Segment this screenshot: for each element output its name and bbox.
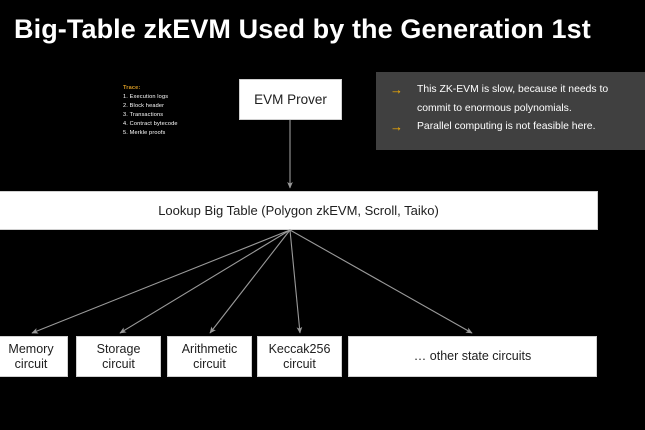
trace-item-4: 4. Contract bytecode bbox=[123, 120, 228, 129]
trace-heading: Trace: bbox=[123, 84, 228, 93]
circuit-box-keccak256: Keccak256 circuit bbox=[257, 336, 342, 377]
trace-item-5: 5. Merkle proofs bbox=[123, 129, 228, 138]
page-title: Big-Table zkEVM Used by the Generation 1… bbox=[14, 12, 634, 46]
callout-panel: → This ZK-EVM is slow, because it needs … bbox=[376, 72, 645, 150]
circuit-storage-line2: circuit bbox=[102, 357, 135, 371]
arrow-right-icon: → bbox=[376, 81, 417, 100]
callout-bullet-1-line2: commit to enormous polynomials. bbox=[417, 100, 639, 119]
circuit-other-state-label: … other state circuits bbox=[414, 349, 531, 364]
arrow-right-icon-2: → bbox=[376, 118, 417, 137]
arrow-table-to-storage bbox=[120, 230, 290, 333]
trace-item-3: 3. Transactions bbox=[123, 111, 228, 120]
circuit-arithmetic-line1: Arithmetic bbox=[182, 342, 238, 356]
trace-item-1: 1. Execution logs bbox=[123, 93, 228, 102]
callout-bullet-1: → This ZK-EVM is slow, because it needs … bbox=[376, 81, 639, 100]
circuit-storage-line1: Storage bbox=[97, 342, 141, 356]
arrow-table-to-keccak bbox=[290, 230, 300, 333]
circuit-keccak256-line2: circuit bbox=[283, 357, 316, 371]
arrow-table-to-other bbox=[290, 230, 472, 333]
arrow-table-to-arithmetic bbox=[210, 230, 290, 333]
trace-list: Trace: 1. Execution logs 2. Block header… bbox=[123, 84, 228, 139]
circuit-box-memory: Memory circuit bbox=[0, 336, 68, 377]
evm-prover-box: EVM Prover bbox=[239, 79, 342, 120]
lookup-big-table-label: Lookup Big Table (Polygon zkEVM, Scroll,… bbox=[158, 203, 439, 218]
circuit-memory-label: Memory circuit bbox=[8, 342, 53, 372]
circuit-memory-line1: Memory bbox=[8, 342, 53, 356]
circuit-box-arithmetic: Arithmetic circuit bbox=[167, 336, 252, 377]
slide-canvas: Big-Table zkEVM Used by the Generation 1… bbox=[0, 0, 645, 430]
lookup-big-table-box: Lookup Big Table (Polygon zkEVM, Scroll,… bbox=[0, 191, 598, 230]
callout-bullet-1-cont: commit to enormous polynomials. bbox=[376, 100, 639, 119]
circuit-box-storage: Storage circuit bbox=[76, 336, 161, 377]
circuit-keccak256-line1: Keccak256 bbox=[269, 342, 331, 356]
circuit-keccak256-label: Keccak256 circuit bbox=[269, 342, 331, 372]
circuit-arithmetic-label: Arithmetic circuit bbox=[182, 342, 238, 372]
arrow-table-to-memory bbox=[32, 230, 290, 333]
circuit-arithmetic-line2: circuit bbox=[193, 357, 226, 371]
circuit-box-other-state: … other state circuits bbox=[348, 336, 597, 377]
callout-bullet-1-line1: This ZK-EVM is slow, because it needs to bbox=[417, 81, 639, 100]
callout-bullet-2-line1: Parallel computing is not feasible here. bbox=[417, 118, 639, 137]
trace-item-2: 2. Block header bbox=[123, 102, 228, 111]
callout-bullet-2: → Parallel computing is not feasible her… bbox=[376, 118, 639, 137]
circuit-memory-line2: circuit bbox=[15, 357, 48, 371]
circuit-storage-label: Storage circuit bbox=[97, 342, 141, 372]
arrow-spacer-icon bbox=[376, 100, 417, 119]
evm-prover-label: EVM Prover bbox=[254, 92, 327, 107]
